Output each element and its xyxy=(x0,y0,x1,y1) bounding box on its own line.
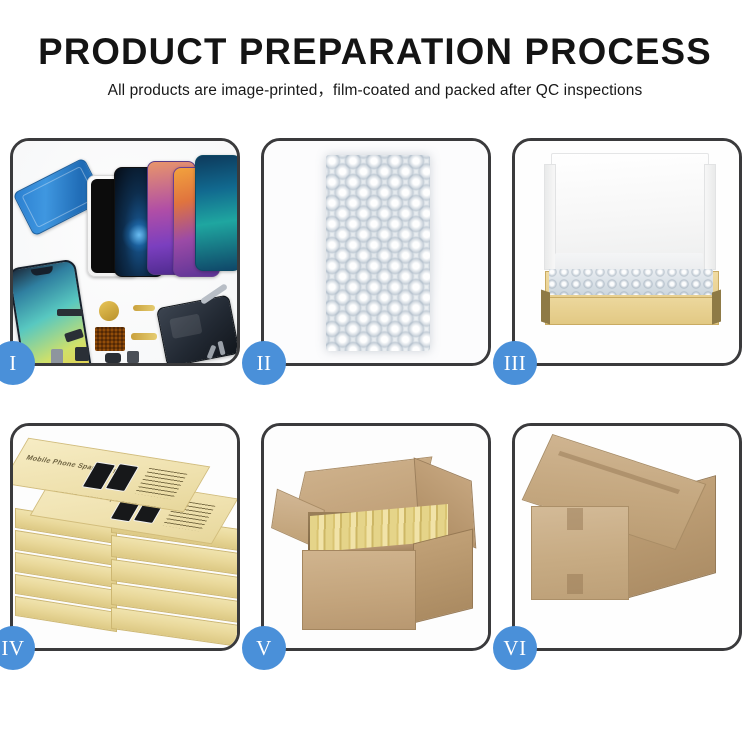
step-4-image: Mobile Phone Spare Parts Mobile Phone Sp… xyxy=(13,426,237,648)
step-badge-5: V xyxy=(242,626,286,670)
retail-box-spec-lines-1 xyxy=(135,468,188,500)
page-header: PRODUCT PREPARATION PROCESS All products… xyxy=(0,0,750,103)
part-chip-3 xyxy=(75,347,89,361)
part-speaker-gold xyxy=(99,301,119,321)
kraft-box-flap-right xyxy=(712,290,721,325)
part-sim-tray xyxy=(51,349,63,363)
step-1-image xyxy=(13,141,237,363)
step-5-image xyxy=(264,426,488,648)
step-2-image xyxy=(264,141,488,363)
bubble-wrap-sheet xyxy=(326,155,430,351)
retail-box-stack: Mobile Phone Spare Parts Mobile Phone Sp… xyxy=(13,426,237,648)
carton-side-panel xyxy=(413,529,473,624)
sealed-carton-tape-front xyxy=(567,508,583,530)
page-title: PRODUCT PREPARATION PROCESS xyxy=(4,30,747,74)
part-chip-4 xyxy=(105,353,121,363)
step-3-image xyxy=(515,141,739,363)
bubble-wrapped-contents xyxy=(549,269,713,295)
step-6-image xyxy=(515,426,739,648)
step-badge-2: II xyxy=(242,341,286,385)
page-subtitle: All products are image-printed，film-coat… xyxy=(0,79,750,103)
process-step-panel-3[interactable]: III xyxy=(512,138,742,366)
process-step-panel-1[interactable]: I xyxy=(10,138,240,366)
process-step-grid: I II III xyxy=(10,138,740,651)
carton-front-panel xyxy=(302,550,416,630)
part-flex-cable-1 xyxy=(133,305,155,311)
part-connector-grid xyxy=(95,327,125,351)
process-step-panel-5[interactable]: V xyxy=(261,423,491,651)
kraft-box-front-panel xyxy=(545,297,719,325)
sealed-carton-tape-bottom xyxy=(567,574,583,594)
process-step-panel-2[interactable]: II xyxy=(261,138,491,366)
part-chip-1 xyxy=(57,309,83,316)
phone-screen-teal xyxy=(195,155,237,271)
kraft-box-flap-left xyxy=(541,290,550,325)
step-badge-3: III xyxy=(493,341,537,385)
part-chip-5 xyxy=(127,351,139,363)
process-step-panel-6[interactable]: VI xyxy=(512,423,742,651)
step-badge-6: VI xyxy=(493,626,537,670)
part-flex-cable-2 xyxy=(131,333,157,340)
process-step-panel-4[interactable]: Mobile Phone Spare Parts Mobile Phone Sp… xyxy=(10,423,240,651)
